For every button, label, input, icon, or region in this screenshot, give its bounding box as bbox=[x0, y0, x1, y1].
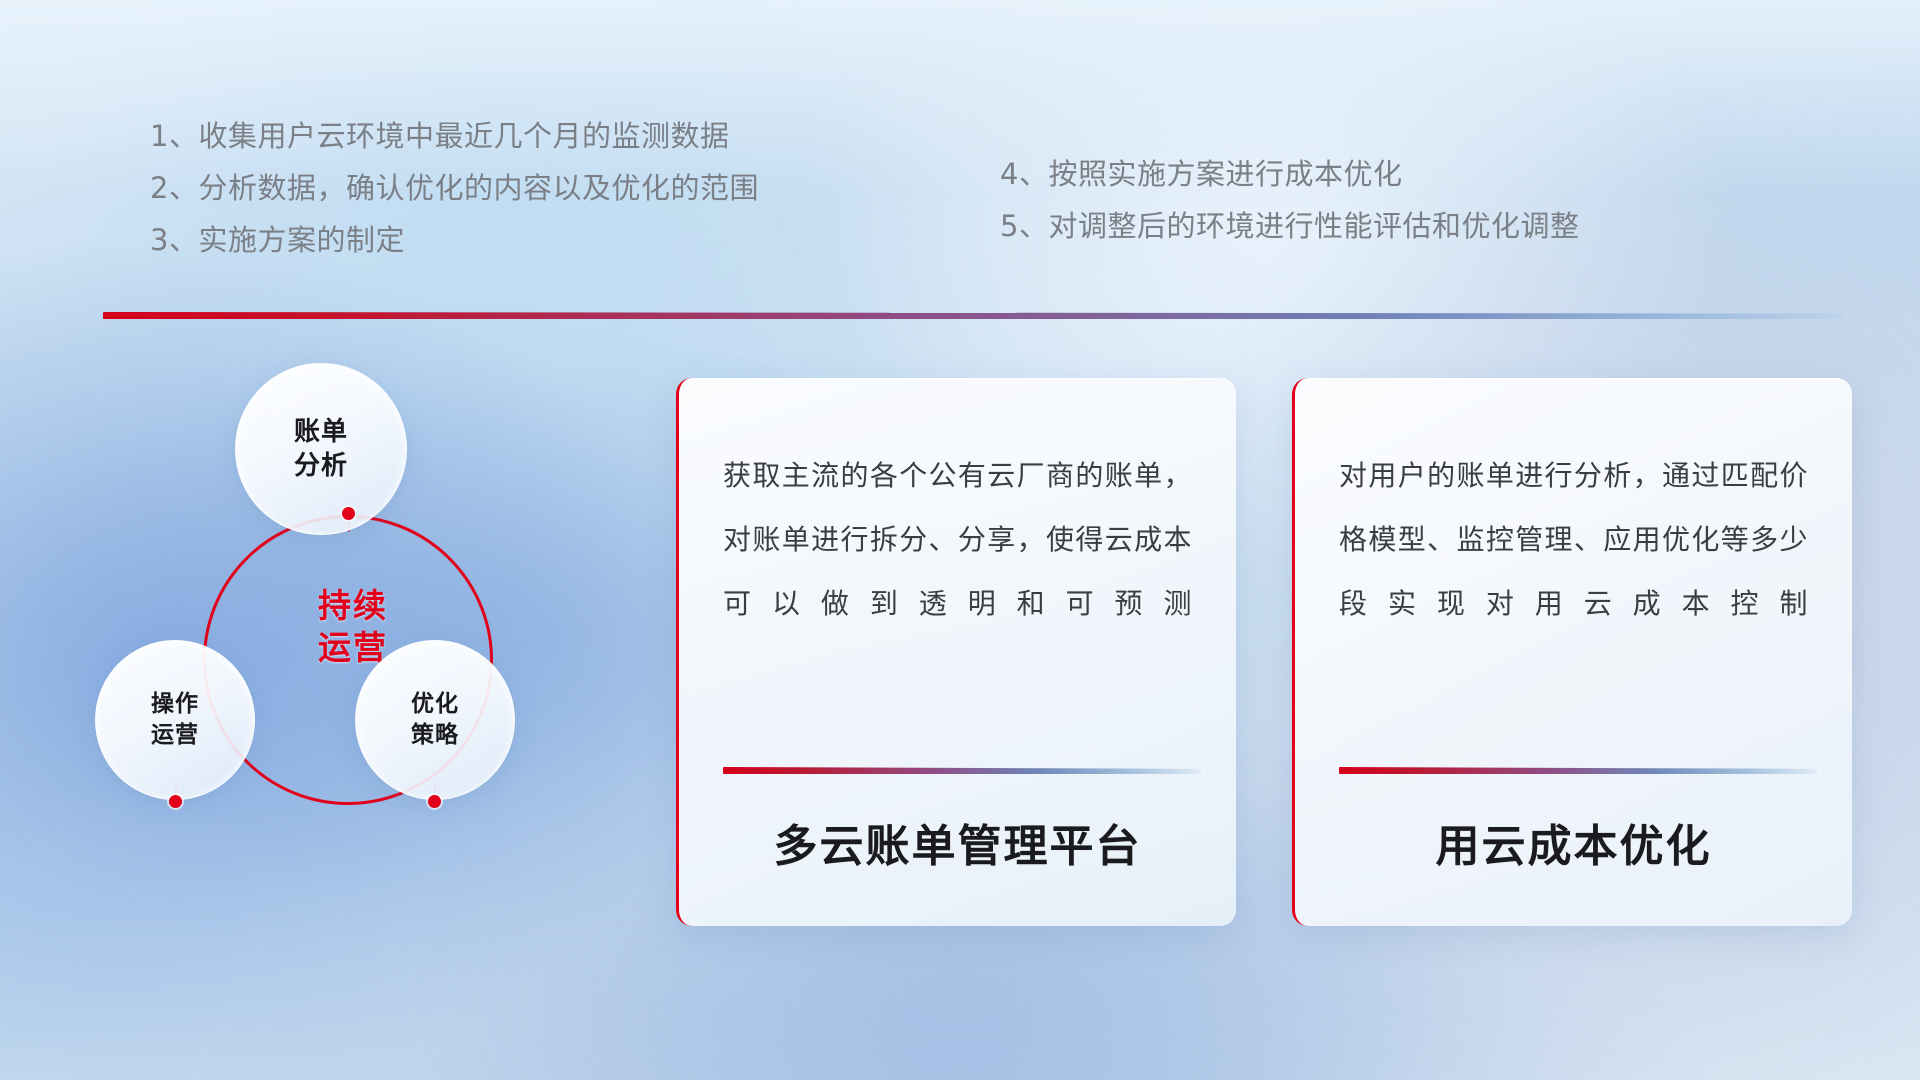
card-accent-rule bbox=[1339, 767, 1817, 774]
diagram-center-label-line1: 持续 bbox=[273, 585, 433, 627]
card-body-text: 对用户的账单进行分析，通过匹配价格模型、监控管理、应用优化等多少段实现对用云成本… bbox=[1339, 444, 1808, 636]
step-item-2: 2、分析数据，确认优化的内容以及优化的范围 bbox=[150, 162, 759, 214]
process-steps-list: 1、收集用户云环境中最近几个月的监测数据 2、分析数据，确认优化的内容以及优化的… bbox=[0, 0, 1920, 300]
diagram-node-operations-line1: 操作 bbox=[151, 689, 199, 720]
diagram-node-optimization-strategy-line2: 策略 bbox=[411, 720, 459, 751]
steps-column-right: 4、按照实施方案进行成本优化 5、对调整后的环境进行性能评估和优化调整 bbox=[1000, 148, 1579, 252]
card-title: 多云账单管理平台 bbox=[679, 810, 1236, 874]
diagram-dot-top bbox=[342, 507, 355, 520]
card-accent-rule bbox=[723, 767, 1201, 774]
diagram-node-bill-analysis-line2: 分析 bbox=[294, 449, 348, 483]
card-body-text: 获取主流的各个公有云厂商的账单，对账单进行拆分、分享，使得云成本可以做到透明和可… bbox=[723, 444, 1192, 636]
continuous-operation-diagram: 持续 运营 账单 分析 操作 运营 优化 策略 bbox=[95, 355, 625, 955]
card-title: 用云成本优化 bbox=[1295, 810, 1852, 874]
step-item-3: 3、实施方案的制定 bbox=[150, 214, 759, 266]
card-cloud-cost-optimization[interactable]: 对用户的账单进行分析，通过匹配价格模型、监控管理、应用优化等多少段实现对用云成本… bbox=[1292, 378, 1852, 926]
diagram-node-optimization-strategy[interactable]: 优化 策略 bbox=[355, 640, 515, 800]
step-item-4: 4、按照实施方案进行成本优化 bbox=[1000, 148, 1579, 200]
step-item-1: 1、收集用户云环境中最近几个月的监测数据 bbox=[150, 110, 759, 162]
diagram-node-operations-line2: 运营 bbox=[151, 720, 199, 751]
diagram-dot-left bbox=[169, 795, 182, 808]
diagram-node-bill-analysis[interactable]: 账单 分析 bbox=[235, 363, 407, 535]
feature-cards: 获取主流的各个公有云厂商的账单，对账单进行拆分、分享，使得云成本可以做到透明和可… bbox=[676, 378, 1876, 938]
diagram-node-operations[interactable]: 操作 运营 bbox=[95, 640, 255, 800]
step-item-5: 5、对调整后的环境进行性能评估和优化调整 bbox=[1000, 200, 1579, 252]
diagram-node-bill-analysis-line1: 账单 bbox=[294, 415, 348, 449]
diagram-node-optimization-strategy-line1: 优化 bbox=[411, 689, 459, 720]
steps-column-left: 1、收集用户云环境中最近几个月的监测数据 2、分析数据，确认优化的内容以及优化的… bbox=[150, 110, 759, 266]
diagram-dot-right bbox=[428, 795, 441, 808]
card-multi-cloud-billing-platform[interactable]: 获取主流的各个公有云厂商的账单，对账单进行拆分、分享，使得云成本可以做到透明和可… bbox=[676, 378, 1236, 926]
